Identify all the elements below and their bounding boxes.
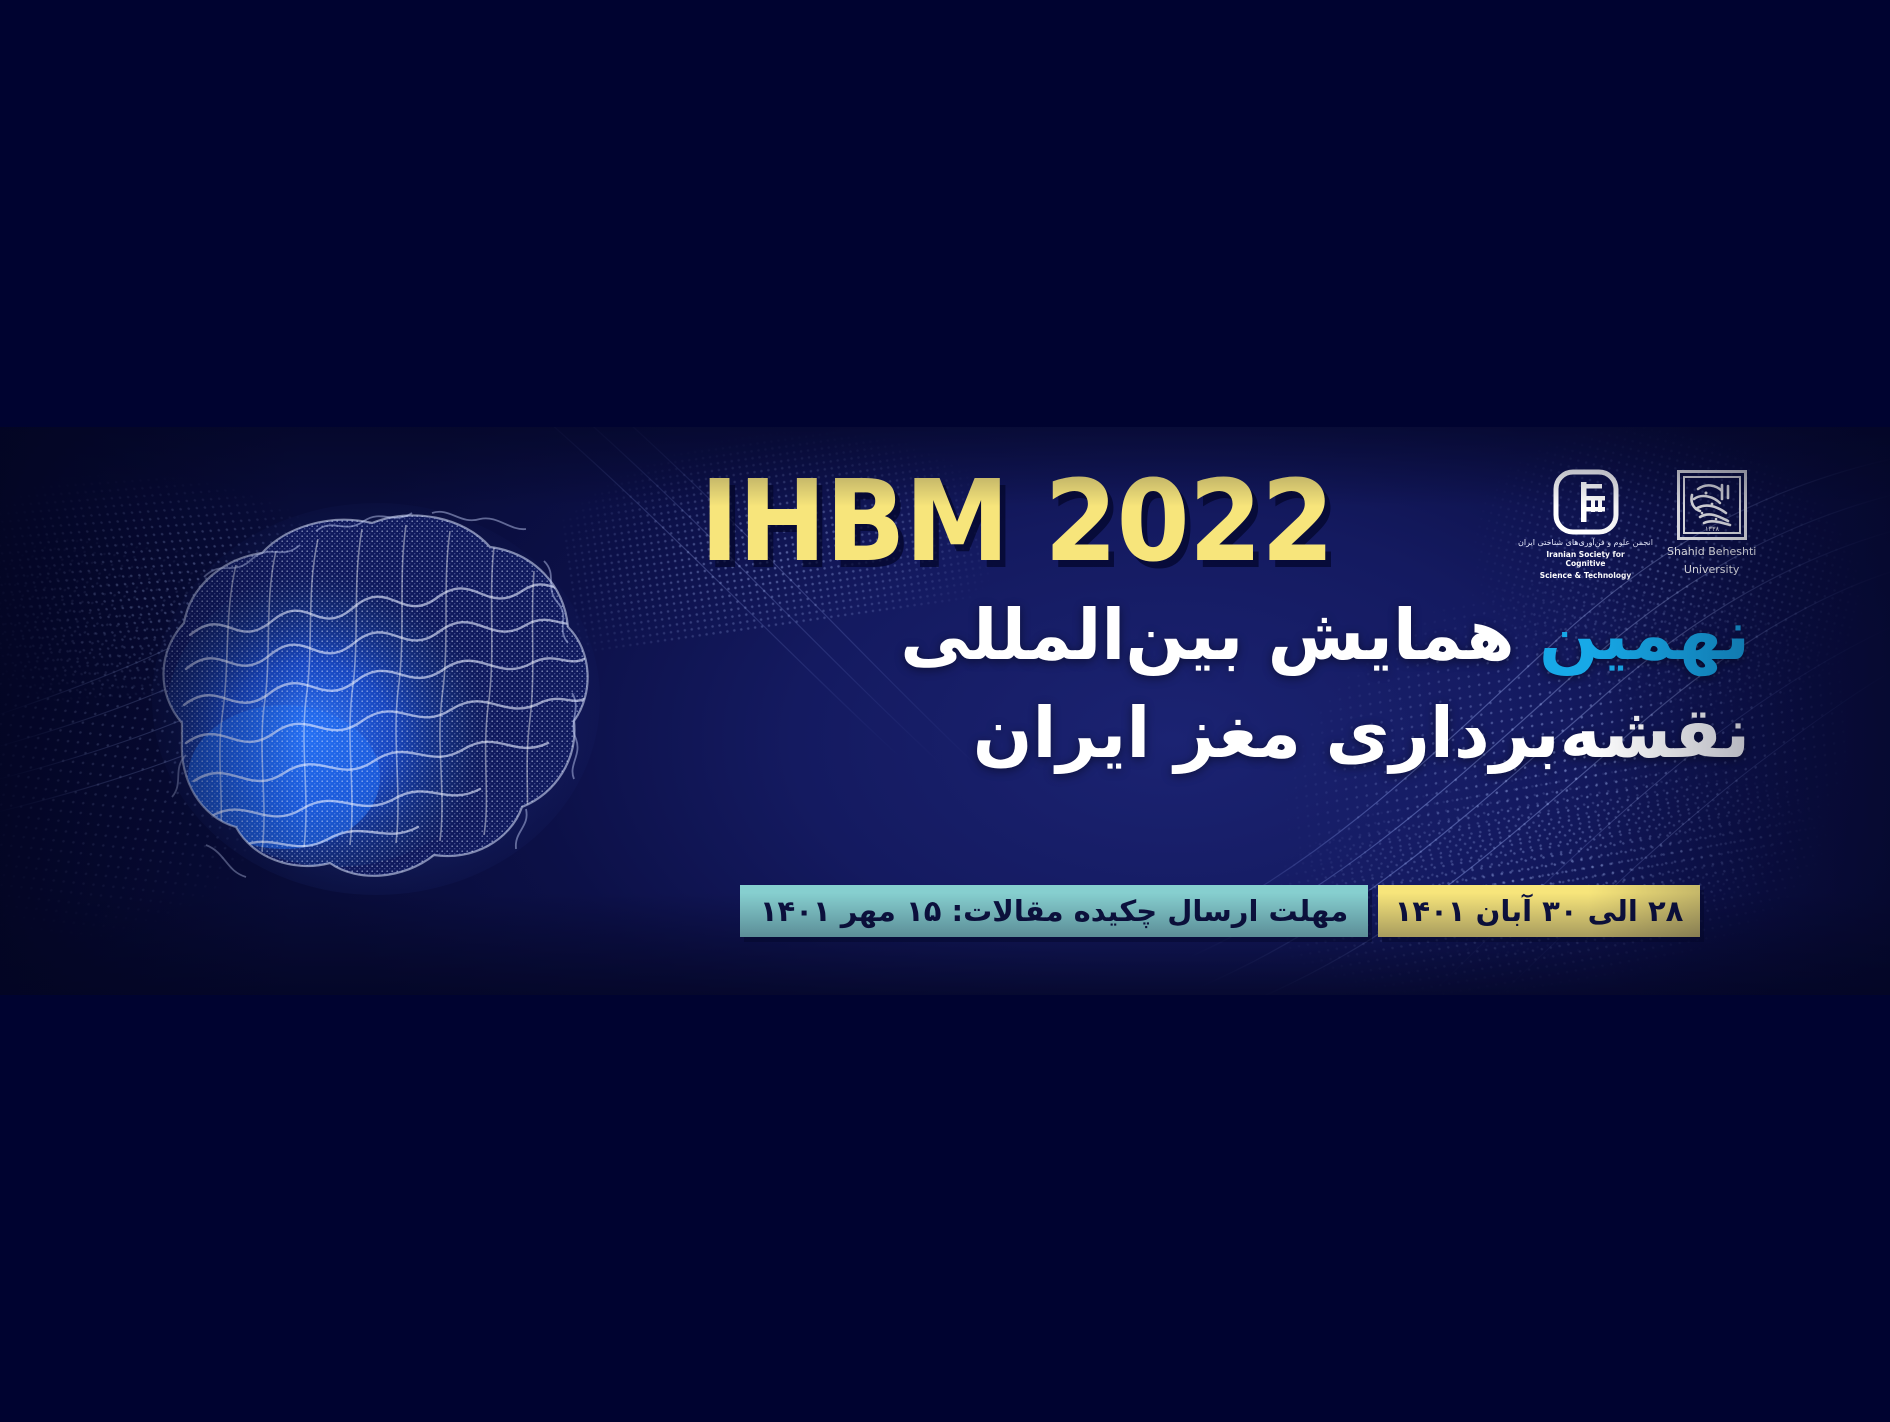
logo-iranian-society-cognitive: انجمن علوم و فن‌آوری‌های شناختی ایران Ir…: [1518, 469, 1653, 580]
logo-caption-en-shahid-beheshti-line2: University: [1684, 564, 1740, 577]
logo-group: انجمن علوم و فن‌آوری‌های شناختی ایران Ir…: [1518, 469, 1756, 580]
logo-caption-fa-iranian-society: انجمن علوم و فن‌آوری‌های شناختی ایران: [1518, 539, 1653, 548]
conference-banner: IHBM 2022 انجمن علوم و فن‌آوری‌های ش: [0, 427, 1890, 995]
page-canvas: IHBM 2022 انجمن علوم و فن‌آوری‌های ش: [0, 0, 1890, 1422]
logo-caption-en-shahid-beheshti-line1: Shahid Beheshti: [1667, 546, 1756, 559]
logo-caption-en-iranian-society-line2: Science & Technology: [1540, 571, 1632, 580]
abstract-deadline-badge: مهلت ارسال چکیده مقالات: ۱۵ مهر ۱۴۰۱: [740, 885, 1368, 937]
headline-line-1-rest: همایش بین‌المللی: [900, 594, 1539, 676]
shahid-beheshti-university-logo-icon: ۱۳۳۸: [1676, 469, 1748, 541]
conference-dates-badge: ۲۸ الی ۳۰ آبان ۱۴۰۱: [1378, 885, 1700, 937]
logo-founding-year: ۱۳۳۸: [1705, 525, 1719, 533]
headline-line-2: نقشه‌برداری مغز ایران: [973, 692, 1750, 774]
logo-shahid-beheshti-university: ۱۳۳۸ Shahid Beheshti University: [1667, 469, 1756, 577]
iranian-society-cognitive-logo-icon: [1553, 469, 1619, 535]
headline-accent-word: نهمین: [1539, 594, 1750, 676]
logo-caption-en-iranian-society-line1: Iranian Society for Cognitive: [1540, 550, 1632, 569]
banner-content: IHBM 2022 انجمن علوم و فن‌آوری‌های ش: [700, 427, 1760, 995]
page-title: IHBM 2022: [700, 471, 1334, 580]
headline-line-1: نهمین همایش بین‌المللی: [900, 594, 1750, 676]
wireframe-brain-illustration: [86, 455, 646, 975]
